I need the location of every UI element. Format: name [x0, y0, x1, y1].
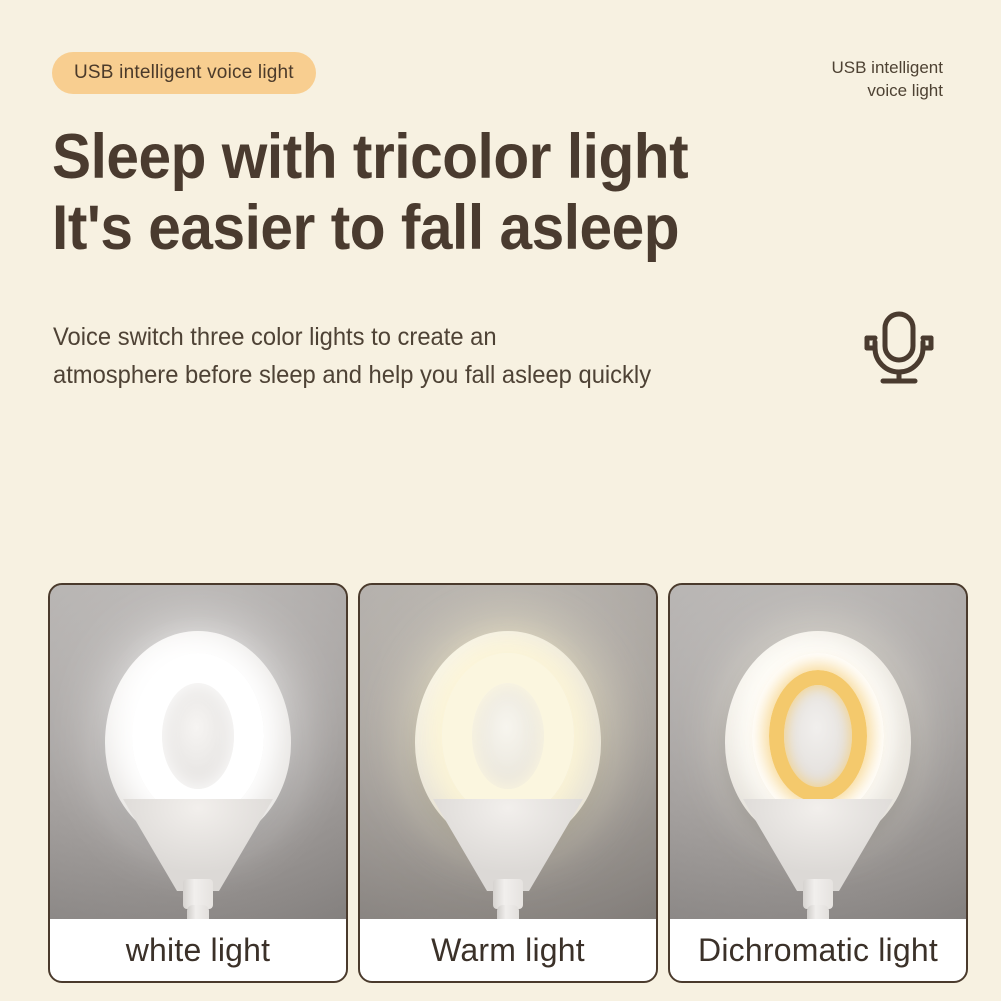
- lamp-stem: [807, 905, 829, 919]
- ring-band-inner-amber: [769, 670, 867, 802]
- product-badge-label: USB intelligent voice light: [74, 62, 294, 84]
- ring-band: [132, 653, 264, 819]
- ring-band: [442, 653, 574, 819]
- product-badge: USB intelligent voice light: [52, 52, 316, 94]
- product-photo-warm-light: [360, 585, 656, 919]
- lamp-shoulder: [743, 799, 893, 891]
- product-card-white-light[interactable]: white light: [48, 583, 348, 983]
- lamp-stem: [497, 905, 519, 919]
- ring-lamp: [403, 631, 613, 919]
- lamp-ring-white: [132, 653, 264, 819]
- card-label-white-light: white light: [50, 919, 346, 981]
- product-photo-dichromatic-light: [670, 585, 966, 919]
- product-card-dichromatic-light[interactable]: Dichromatic light: [668, 583, 968, 983]
- header-row: USB intelligent voice light USB intellig…: [0, 0, 1001, 120]
- ring-lamp: [713, 631, 923, 919]
- card-label-dichromatic-light: Dichromatic light: [670, 919, 966, 981]
- ring-lamp: [93, 631, 303, 919]
- product-card-warm-light[interactable]: Warm light: [358, 583, 658, 983]
- hero-headline: Sleep with tricolor light It's easier to…: [52, 122, 688, 263]
- card-label-warm-light: Warm light: [360, 919, 656, 981]
- lamp-shoulder: [123, 799, 273, 891]
- lamp-ring-warm: [442, 653, 574, 819]
- lamp-shoulder: [433, 799, 583, 891]
- microphone-icon: [857, 308, 941, 392]
- lamp-ring-dichromatic: [752, 653, 884, 819]
- hero-subcopy: Voice switch three color lights to creat…: [53, 318, 832, 394]
- lamp-stem: [187, 905, 209, 919]
- product-card-grid: white light Warm light: [48, 583, 968, 983]
- corner-brand-label: USB intelligent voice light: [831, 57, 943, 103]
- product-photo-white-light: [50, 585, 346, 919]
